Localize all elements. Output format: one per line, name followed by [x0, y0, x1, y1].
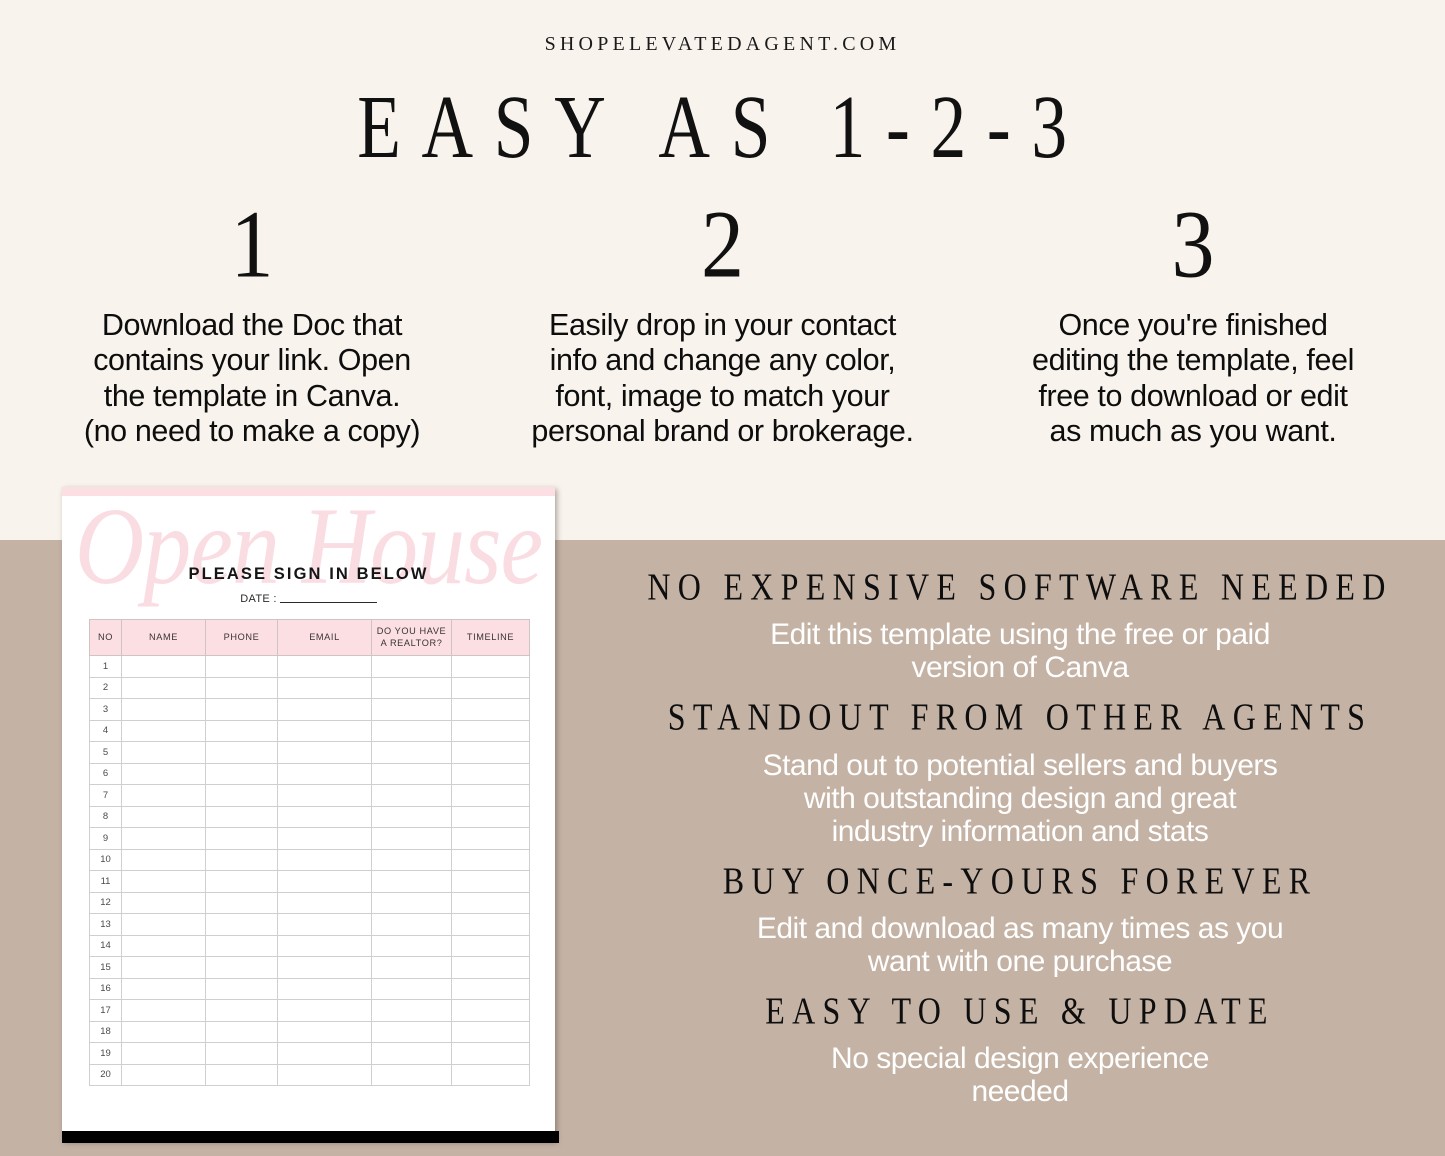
row-blank-cell[interactable] [206, 828, 278, 850]
sign-in-table-head: NO NAME PHONE EMAIL DO YOU HAVE A REALTO… [90, 620, 530, 656]
table-row: 13 [90, 914, 530, 936]
row-blank-cell[interactable] [372, 935, 452, 957]
row-blank-cell[interactable] [278, 720, 372, 742]
document-script-title: Open House [62, 491, 555, 601]
row-blank-cell[interactable] [452, 763, 530, 785]
row-blank-cell[interactable] [372, 699, 452, 721]
table-row: 14 [90, 935, 530, 957]
table-row: 7 [90, 785, 530, 807]
step-1: 1 Download the Doc that contains your li… [22, 196, 482, 450]
feature-3-body: Edit and download as many times as you w… [595, 912, 1445, 978]
row-blank-cell[interactable] [122, 871, 206, 893]
step-2-text: Easily drop in your contact info and cha… [493, 308, 953, 450]
document-top-accent-strip [62, 487, 555, 496]
row-blank-cell[interactable] [278, 935, 372, 957]
row-blank-cell[interactable] [372, 828, 452, 850]
row-blank-cell[interactable] [122, 935, 206, 957]
row-blank-cell[interactable] [278, 806, 372, 828]
row-blank-cell[interactable] [278, 677, 372, 699]
row-number-cell: 5 [90, 742, 122, 764]
feature-4-heading: EASY TO USE & UPDATE [608, 988, 1433, 1036]
row-blank-cell[interactable] [206, 957, 278, 979]
row-blank-cell[interactable] [452, 935, 530, 957]
column-header-name: NAME [122, 620, 206, 656]
row-blank-cell[interactable] [278, 656, 372, 678]
row-blank-cell[interactable] [122, 656, 206, 678]
row-blank-cell[interactable] [122, 914, 206, 936]
row-number-cell: 11 [90, 871, 122, 893]
row-blank-cell[interactable] [452, 849, 530, 871]
row-blank-cell[interactable] [206, 806, 278, 828]
row-blank-cell[interactable] [122, 1064, 206, 1086]
row-number-cell: 18 [90, 1021, 122, 1043]
table-row: 5 [90, 742, 530, 764]
row-blank-cell[interactable] [122, 763, 206, 785]
row-blank-cell[interactable] [452, 1064, 530, 1086]
row-blank-cell[interactable] [278, 957, 372, 979]
row-blank-cell[interactable] [278, 849, 372, 871]
row-blank-cell[interactable] [278, 914, 372, 936]
row-blank-cell[interactable] [372, 763, 452, 785]
row-number-cell: 4 [90, 720, 122, 742]
row-blank-cell[interactable] [452, 957, 530, 979]
sign-in-table-body: 1234567891011121314151617181920 [90, 656, 530, 1086]
row-blank-cell[interactable] [452, 914, 530, 936]
row-number-cell: 20 [90, 1064, 122, 1086]
row-blank-cell[interactable] [278, 892, 372, 914]
column-header-email: EMAIL [278, 620, 372, 656]
row-blank-cell[interactable] [278, 978, 372, 1000]
feature-no-expensive-software: NO EXPENSIVE SOFTWARE NEEDED Edit this t… [595, 568, 1445, 684]
row-blank-cell[interactable] [206, 699, 278, 721]
row-blank-cell[interactable] [372, 978, 452, 1000]
row-blank-cell[interactable] [122, 1043, 206, 1065]
row-blank-cell[interactable] [206, 742, 278, 764]
row-blank-cell[interactable] [206, 892, 278, 914]
row-blank-cell[interactable] [452, 656, 530, 678]
row-blank-cell[interactable] [122, 892, 206, 914]
row-blank-cell[interactable] [206, 677, 278, 699]
row-blank-cell[interactable] [122, 957, 206, 979]
row-blank-cell[interactable] [278, 785, 372, 807]
row-blank-cell[interactable] [206, 849, 278, 871]
row-blank-cell[interactable] [452, 978, 530, 1000]
feature-2-heading: STANDOUT FROM OTHER AGENTS [608, 695, 1433, 743]
row-blank-cell[interactable] [206, 656, 278, 678]
open-house-document-preview: Open House PLEASE SIGN IN BELOW DATE : N… [62, 487, 555, 1141]
row-blank-cell[interactable] [122, 828, 206, 850]
row-blank-cell[interactable] [452, 1043, 530, 1065]
row-blank-cell[interactable] [278, 828, 372, 850]
row-blank-cell[interactable] [206, 720, 278, 742]
feature-1-body: Edit this template using the free or pai… [595, 618, 1445, 684]
row-blank-cell[interactable] [372, 677, 452, 699]
row-number-cell: 6 [90, 763, 122, 785]
row-blank-cell[interactable] [372, 742, 452, 764]
row-blank-cell[interactable] [452, 806, 530, 828]
row-blank-cell[interactable] [452, 1021, 530, 1043]
row-blank-cell[interactable] [278, 1064, 372, 1086]
row-blank-cell[interactable] [278, 871, 372, 893]
row-blank-cell[interactable] [452, 1000, 530, 1022]
table-row: 15 [90, 957, 530, 979]
row-blank-cell[interactable] [278, 742, 372, 764]
column-header-phone: PHONE [206, 620, 278, 656]
feature-1-heading: NO EXPENSIVE SOFTWARE NEEDED [608, 565, 1433, 613]
row-number-cell: 19 [90, 1043, 122, 1065]
row-blank-cell[interactable] [206, 785, 278, 807]
row-number-cell: 12 [90, 892, 122, 914]
row-blank-cell[interactable] [452, 785, 530, 807]
feature-easy-to-use-and-update: EASY TO USE & UPDATE No special design e… [595, 992, 1445, 1108]
table-row: 16 [90, 978, 530, 1000]
table-row: 2 [90, 677, 530, 699]
step-2: 2 Easily drop in your contact info and c… [493, 196, 953, 450]
table-row: 20 [90, 1064, 530, 1086]
row-blank-cell[interactable] [206, 1064, 278, 1086]
row-blank-cell[interactable] [206, 763, 278, 785]
row-blank-cell[interactable] [122, 849, 206, 871]
table-row: 8 [90, 806, 530, 828]
row-blank-cell[interactable] [372, 892, 452, 914]
row-blank-cell[interactable] [452, 892, 530, 914]
column-header-realtor: DO YOU HAVE A REALTOR? [372, 620, 452, 656]
feature-2-body: Stand out to potential sellers and buyer… [595, 749, 1445, 848]
site-url-text: SHOPELEVATEDAGENT.COM [0, 33, 1445, 56]
row-blank-cell[interactable] [278, 1000, 372, 1022]
row-blank-cell[interactable] [122, 677, 206, 699]
row-number-cell: 9 [90, 828, 122, 850]
row-blank-cell[interactable] [206, 1043, 278, 1065]
table-row: 6 [90, 763, 530, 785]
sign-in-table: NO NAME PHONE EMAIL DO YOU HAVE A REALTO… [89, 619, 530, 1086]
row-blank-cell[interactable] [452, 720, 530, 742]
feature-list: NO EXPENSIVE SOFTWARE NEEDED Edit this t… [595, 568, 1445, 1122]
row-blank-cell[interactable] [452, 871, 530, 893]
table-row: 3 [90, 699, 530, 721]
document-date-label: DATE : [240, 593, 276, 605]
row-blank-cell[interactable] [278, 1021, 372, 1043]
row-number-cell: 3 [90, 699, 122, 721]
row-number-cell: 16 [90, 978, 122, 1000]
row-blank-cell[interactable] [452, 699, 530, 721]
table-row: 4 [90, 720, 530, 742]
row-number-cell: 14 [90, 935, 122, 957]
row-blank-cell[interactable] [278, 1043, 372, 1065]
table-row: 10 [90, 849, 530, 871]
row-blank-cell[interactable] [122, 1021, 206, 1043]
table-row: 18 [90, 1021, 530, 1043]
row-number-cell: 17 [90, 1000, 122, 1022]
row-blank-cell[interactable] [372, 849, 452, 871]
row-blank-cell[interactable] [206, 1021, 278, 1043]
row-blank-cell[interactable] [122, 806, 206, 828]
row-blank-cell[interactable] [372, 1064, 452, 1086]
table-header-row: NO NAME PHONE EMAIL DO YOU HAVE A REALTO… [90, 620, 530, 656]
row-blank-cell[interactable] [122, 720, 206, 742]
step-1-text: Download the Doc that contains your link… [22, 308, 482, 450]
row-blank-cell[interactable] [122, 699, 206, 721]
row-blank-cell[interactable] [206, 871, 278, 893]
column-header-timeline: TIMELINE [452, 620, 530, 656]
document-date-blank-line [280, 602, 377, 603]
table-row: 9 [90, 828, 530, 850]
document-subtitle: PLEASE SIGN IN BELOW [62, 565, 555, 584]
table-row: 19 [90, 1043, 530, 1065]
row-blank-cell[interactable] [206, 914, 278, 936]
row-blank-cell[interactable] [206, 978, 278, 1000]
page-title: EASY AS 1-2-3 [43, 77, 1401, 180]
row-blank-cell[interactable] [122, 785, 206, 807]
table-row: 1 [90, 656, 530, 678]
document-date-field: DATE : [62, 593, 555, 605]
row-number-cell: 2 [90, 677, 122, 699]
row-blank-cell[interactable] [372, 1021, 452, 1043]
row-blank-cell[interactable] [278, 763, 372, 785]
row-number-cell: 13 [90, 914, 122, 936]
row-blank-cell[interactable] [372, 656, 452, 678]
row-blank-cell[interactable] [372, 720, 452, 742]
row-blank-cell[interactable] [122, 1000, 206, 1022]
row-blank-cell[interactable] [452, 828, 530, 850]
step-2-number: 2 [493, 196, 953, 292]
poster-canvas: SHOPELEVATEDAGENT.COM EASY AS 1-2-3 1 Do… [0, 0, 1445, 1156]
row-blank-cell[interactable] [372, 785, 452, 807]
table-row: 17 [90, 1000, 530, 1022]
row-blank-cell[interactable] [372, 957, 452, 979]
row-number-cell: 15 [90, 957, 122, 979]
row-number-cell: 7 [90, 785, 122, 807]
feature-standout-from-other-agents: STANDOUT FROM OTHER AGENTS Stand out to … [595, 698, 1445, 847]
row-blank-cell[interactable] [372, 871, 452, 893]
row-blank-cell[interactable] [122, 978, 206, 1000]
row-blank-cell[interactable] [452, 677, 530, 699]
table-row: 12 [90, 892, 530, 914]
row-blank-cell[interactable] [372, 914, 452, 936]
row-blank-cell[interactable] [372, 1043, 452, 1065]
step-3-text: Once you're finished editing the templat… [963, 308, 1423, 450]
row-blank-cell[interactable] [206, 935, 278, 957]
feature-4-body: No special design experience needed [595, 1042, 1445, 1108]
row-blank-cell[interactable] [206, 1000, 278, 1022]
row-blank-cell[interactable] [278, 699, 372, 721]
step-3: 3 Once you're finished editing the templ… [963, 196, 1423, 450]
document-bottom-edge [62, 1131, 559, 1143]
table-row: 11 [90, 871, 530, 893]
row-blank-cell[interactable] [372, 806, 452, 828]
column-header-no: NO [90, 620, 122, 656]
row-blank-cell[interactable] [452, 742, 530, 764]
row-number-cell: 8 [90, 806, 122, 828]
step-1-number: 1 [22, 196, 482, 292]
row-blank-cell[interactable] [372, 1000, 452, 1022]
steps-row: 1 Download the Doc that contains your li… [0, 196, 1445, 450]
row-number-cell: 1 [90, 656, 122, 678]
row-blank-cell[interactable] [122, 742, 206, 764]
feature-buy-once-yours-forever: BUY ONCE-YOURS FOREVER Edit and download… [595, 862, 1445, 978]
feature-3-heading: BUY ONCE-YOURS FOREVER [608, 858, 1433, 906]
step-3-number: 3 [963, 196, 1423, 292]
row-number-cell: 10 [90, 849, 122, 871]
